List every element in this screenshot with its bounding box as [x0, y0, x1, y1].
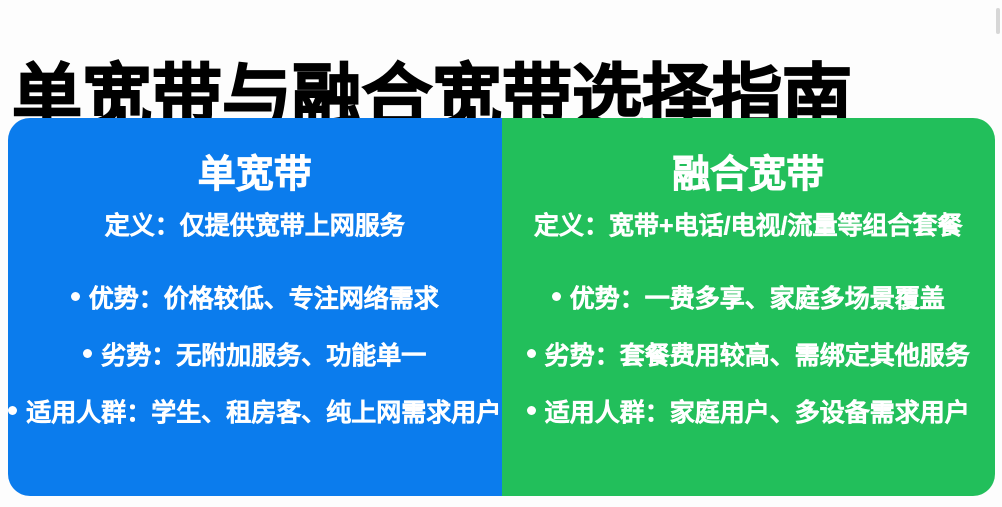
- bullet-dot-icon: [8, 406, 17, 415]
- bullet-dot-icon: [527, 406, 536, 415]
- bullet-text: 适用人群：学生、租房客、纯上网需求用户: [26, 393, 501, 429]
- panel-converged-broadband: 融合宽带 定义：宽带+电话/电视/流量等组合套餐 优势：一费多享、家庭多场景覆盖…: [502, 118, 996, 496]
- bullet-list-converged-broadband: 优势：一费多享、家庭多场景覆盖 劣势：套餐费用较高、需绑定其他服务 适用人群：家…: [502, 268, 996, 439]
- list-item: 劣势：套餐费用较高、需绑定其他服务: [502, 325, 996, 382]
- list-item: 适用人群：学生、租房客、纯上网需求用户: [8, 382, 502, 439]
- comparison-panels: 单宽带 定义：仅提供宽带上网服务 优势：价格较低、专注网络需求 劣势：无附加服务…: [8, 118, 995, 496]
- list-item: 劣势：无附加服务、功能单一: [8, 325, 502, 382]
- bullet-text: 劣势：无附加服务、功能单一: [101, 336, 426, 372]
- panel-heading-single-broadband: 单宽带: [8, 143, 502, 198]
- list-item: 优势：一费多享、家庭多场景覆盖: [502, 268, 996, 325]
- bullet-text: 优势：价格较低、专注网络需求: [89, 279, 439, 315]
- panel-single-broadband: 单宽带 定义：仅提供宽带上网服务 优势：价格较低、专注网络需求 劣势：无附加服务…: [8, 118, 502, 496]
- bullet-dot-icon: [527, 349, 536, 358]
- bullet-dot-icon: [71, 292, 80, 301]
- panel-definition-converged-broadband: 定义：宽带+电话/电视/流量等组合套餐: [502, 206, 996, 242]
- bullet-text: 劣势：套餐费用较高、需绑定其他服务: [545, 336, 970, 372]
- bullet-text: 优势：一费多享、家庭多场景覆盖: [570, 279, 945, 315]
- panel-heading-converged-broadband: 融合宽带: [502, 143, 996, 198]
- list-item: 适用人群：家庭用户、多设备需求用户: [502, 382, 996, 439]
- infographic-root: 单宽带与融合宽带选择指南 单宽带 定义：仅提供宽带上网服务 优势：价格较低、专注…: [0, 0, 1002, 507]
- bullet-list-single-broadband: 优势：价格较低、专注网络需求 劣势：无附加服务、功能单一 适用人群：学生、租房客…: [8, 268, 502, 439]
- panel-definition-single-broadband: 定义：仅提供宽带上网服务: [8, 206, 502, 242]
- bullet-dot-icon: [552, 292, 561, 301]
- list-item: 优势：价格较低、专注网络需求: [8, 268, 502, 325]
- bullet-dot-icon: [83, 349, 92, 358]
- page-scrollbar[interactable]: [996, 8, 1000, 34]
- bullet-text: 适用人群：家庭用户、多设备需求用户: [545, 393, 970, 429]
